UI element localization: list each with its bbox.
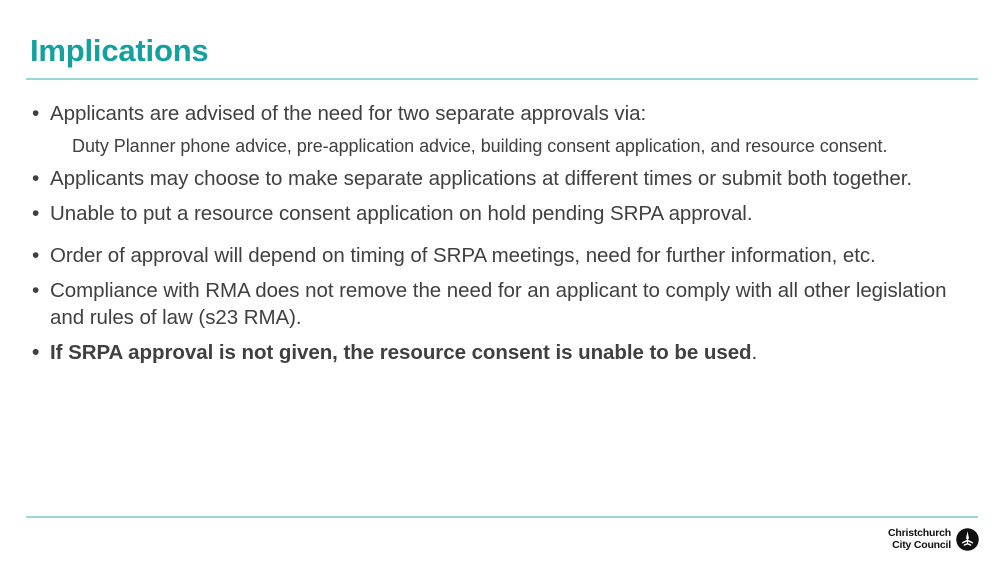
title-divider: [26, 78, 978, 80]
slide: Implications • Applicants are advised of…: [0, 0, 1003, 565]
logo-wordmark: Christchurch City Council: [888, 528, 951, 550]
list-item-text: Unable to put a resource consent applica…: [50, 200, 978, 227]
list-item-text-bold: If SRPA approval is not given, the resou…: [50, 341, 752, 364]
bullet-marker: •: [32, 339, 50, 366]
list-item-text: Order of approval will depend on timing …: [50, 242, 978, 269]
bullet-marker: •: [32, 242, 50, 269]
list-item-emphasis: • If SRPA approval is not given, the res…: [26, 339, 978, 366]
list-item-text: Applicants may choose to make separate a…: [50, 165, 978, 192]
bullet-marker: •: [32, 100, 50, 127]
list-item: • Applicants may choose to make separate…: [26, 165, 978, 192]
list-item-text: Applicants are advised of the need for t…: [50, 100, 978, 127]
list-item-text: If SRPA approval is not given, the resou…: [50, 339, 978, 366]
sub-list-item-text: Duty Planner phone advice, pre-applicati…: [72, 135, 887, 158]
sub-list-item: Duty Planner phone advice, pre-applicati…: [26, 135, 978, 158]
list-item-text-tail: .: [752, 341, 758, 364]
bullet-marker: •: [32, 277, 50, 304]
christchurch-city-council-emblem-icon: [956, 528, 979, 551]
list-item-text: Compliance with RMA does not remove the …: [50, 277, 978, 331]
bullet-list: • Applicants are advised of the need for…: [26, 100, 978, 374]
list-item: • Unable to put a resource consent appli…: [26, 200, 978, 227]
christchurch-city-council-logo: Christchurch City Council: [888, 528, 979, 551]
footer-divider: [26, 516, 978, 518]
logo-line-2: City Council: [888, 540, 951, 551]
list-item: • Order of approval will depend on timin…: [26, 242, 978, 269]
page-title: Implications: [30, 33, 208, 69]
bullet-marker: •: [32, 200, 50, 227]
list-item: • Compliance with RMA does not remove th…: [26, 277, 978, 331]
bullet-marker: •: [32, 165, 50, 192]
logo-line-1: Christchurch: [888, 528, 951, 539]
list-item: • Applicants are advised of the need for…: [26, 100, 978, 127]
